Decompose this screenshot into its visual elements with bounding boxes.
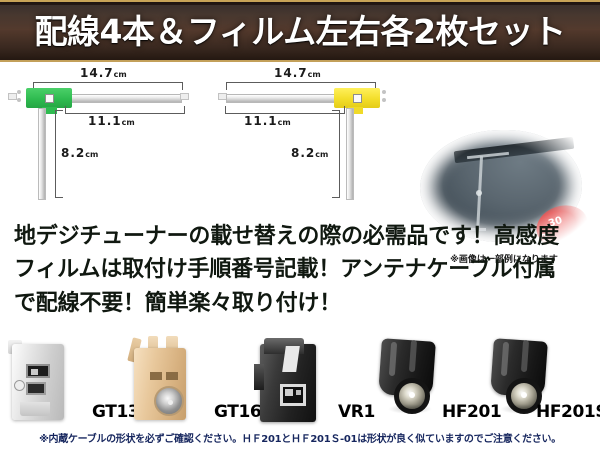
right-dim-mid-bracket bbox=[225, 106, 345, 114]
description-block: 地デジチューナーの載せ替えの際の必需品です！高感度 フィルムは取付け手順番号記載… bbox=[14, 220, 589, 320]
film-diagram-area: 14.7cm 11.1cm 8.2cm 14 bbox=[0, 62, 600, 217]
right-dim-mid-label: 11.1cm bbox=[244, 114, 291, 128]
gt13-port-lower bbox=[26, 382, 46, 395]
description-line-3: で配線不要！簡単楽々取り付け！ bbox=[14, 287, 589, 320]
connector-type-row: GT13 GT16 VR1 bbox=[0, 330, 600, 428]
right-film-pin-dots bbox=[382, 90, 389, 106]
header-banner: 配線4本＆フィルム左右各2枚セット bbox=[0, 0, 600, 62]
right-film-connector-pad bbox=[334, 88, 380, 108]
left-film-endcap-inner bbox=[180, 93, 189, 100]
right-dim-top-label: 14.7cm bbox=[274, 66, 321, 80]
left-dim-vert-label: 8.2cm bbox=[61, 146, 98, 160]
right-film-number-chip bbox=[353, 94, 362, 103]
vr1-side-wing bbox=[254, 364, 264, 390]
description-line-2: フィルムは取付け手順番号記載！アンテナケーブル付属 bbox=[14, 253, 589, 286]
right-dim-vert-bracket bbox=[332, 110, 340, 198]
antenna-feed-point bbox=[476, 190, 482, 196]
banner-title: 配線4本＆フィルム左右各2枚セット bbox=[34, 15, 565, 48]
connector-hf201s01: HF201S-01 bbox=[478, 330, 600, 428]
left-film-connector-pad bbox=[26, 88, 72, 108]
gt13-base bbox=[20, 402, 50, 416]
right-film-strip-vertical bbox=[346, 108, 354, 200]
description-line-1: 地デジチューナーの載せ替えの際の必需品です！高感度 bbox=[14, 220, 589, 253]
vr1-port bbox=[280, 384, 306, 406]
left-film-endcap-outer bbox=[8, 93, 17, 100]
left-film-pin-dots bbox=[17, 90, 24, 106]
gt16-slot-right bbox=[166, 372, 178, 380]
right-film-strip-horizontal bbox=[226, 94, 338, 103]
hf201-shadow bbox=[388, 404, 432, 414]
hf201s01-label: HF201S-01 bbox=[536, 402, 600, 422]
left-film-number-chip bbox=[45, 94, 54, 103]
right-dim-vert-label: 8.2cm bbox=[291, 146, 328, 160]
gt16-coax-ring bbox=[154, 386, 184, 416]
gt13-latch bbox=[14, 380, 25, 391]
right-film-diagram: 14.7cm 11.1cm 8.2cm bbox=[212, 62, 427, 217]
left-dim-mid-bracket bbox=[65, 106, 185, 114]
left-dim-mid-label: 11.1cm bbox=[88, 114, 135, 128]
gt13-port-upper bbox=[26, 364, 50, 378]
left-film-strip-vertical bbox=[38, 108, 46, 200]
left-dim-top-label: 14.7cm bbox=[80, 66, 127, 80]
left-film-diagram: 14.7cm 11.1cm 8.2cm bbox=[8, 62, 223, 217]
footer-warning: ※内蔵ケーブルの形状を必ずご確認ください。ＨＦ201とＨＦ201Ｓ-01は形状が… bbox=[0, 430, 600, 445]
gt16-slot-left bbox=[150, 372, 162, 380]
product-banner-image: 配線4本＆フィルム左右各2枚セット 14.7cm 11.1cm bbox=[0, 0, 600, 450]
left-film-strip-horizontal bbox=[70, 94, 182, 103]
